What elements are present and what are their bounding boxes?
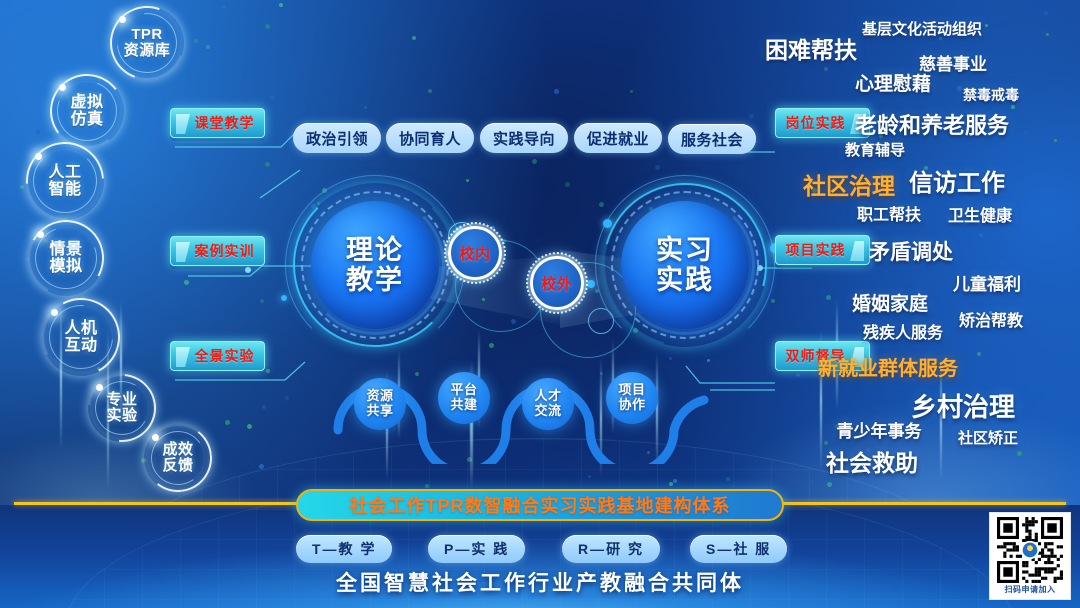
particle-dot (796, 373, 800, 377)
word-cloud-item: 禁毒戒毒 (963, 85, 1019, 105)
bubble-label: 成效反馈 (162, 442, 193, 474)
bridge-node-off-campus[interactable]: 校外 (530, 256, 584, 310)
tps-pill-teaching[interactable]: T—教 学 (296, 535, 392, 563)
particle-dot (824, 67, 828, 71)
particle-dot (827, 482, 832, 487)
bubble-spark (152, 434, 159, 441)
bubble-4[interactable]: 情景模拟 (28, 220, 104, 296)
particle-dot (425, 484, 429, 488)
particle-dot (565, 182, 570, 187)
tag-label: 全景实验 (195, 346, 255, 366)
top-pill-label: 政治引领 (306, 128, 368, 149)
word-cloud-item: 新就业群体服务 (818, 352, 958, 381)
particle-dot (36, 130, 40, 134)
particle-dot (1017, 451, 1022, 456)
particle-dot (630, 90, 633, 93)
wave-node-line1: 人才 (534, 389, 561, 404)
word-cloud-label: 矫治帮教 (959, 313, 1023, 330)
particle-dot (655, 165, 660, 170)
hub-title-line1: 实习 (656, 235, 714, 265)
bubble-label-line2: 资源库 (124, 43, 171, 59)
bubble-label-line1: 成效 (162, 442, 193, 458)
word-cloud-label: 基层文化活动组织 (862, 21, 982, 38)
hub-dot (587, 280, 595, 288)
wave-node-line2: 共建 (450, 398, 477, 413)
word-cloud-item: 儿童福利 (953, 270, 1021, 295)
word-cloud-item: 残疾人服务 (863, 319, 943, 343)
particle-dot (979, 233, 983, 237)
particle-dot (826, 295, 831, 300)
particle-dot (1000, 261, 1004, 265)
top-pill-label: 服务社会 (681, 129, 743, 150)
bubble-label: 专业实验 (106, 392, 137, 424)
tag-label: 课堂教学 (195, 113, 255, 133)
word-cloud-item: 社区治理 (803, 167, 895, 201)
wave-node-talent-exchange[interactable]: 人才交流 (522, 378, 574, 430)
bubble-3[interactable]: 人工智能 (26, 142, 104, 220)
word-cloud-label: 禁毒戒毒 (963, 87, 1019, 103)
bubble-label-line2: 互动 (64, 337, 97, 354)
word-cloud-label: 矛盾调处 (869, 241, 953, 264)
particle-dot (265, 24, 270, 29)
top-pill-1[interactable]: 政治引领 (293, 123, 381, 153)
particle-dot (669, 482, 673, 486)
word-cloud-item: 教育辅导 (845, 139, 905, 160)
hub-dot (603, 219, 612, 228)
wave-node-line1: 平台 (450, 383, 477, 398)
tag-case-training[interactable]: 案例实训 (170, 236, 265, 266)
word-cloud-item: 困难帮扶 (765, 31, 857, 65)
top-pill-5[interactable]: 服务社会 (668, 124, 756, 154)
particle-dot (489, 343, 494, 348)
qr-code-panel[interactable]: 扫码申请加入 (989, 512, 1071, 600)
particle-dot (810, 480, 813, 483)
particle-dot (260, 299, 264, 303)
wave-node-project-collaboration[interactable]: 项目协作 (606, 372, 658, 424)
wave-node-line2: 交流 (534, 404, 561, 419)
bubble-label-line1: 情景 (49, 241, 82, 258)
particle-dot (588, 475, 591, 478)
particle-dot (1024, 131, 1028, 135)
particle-dot (1019, 405, 1023, 409)
tps-pill-label: P—实 践 (444, 539, 509, 559)
particle-dot (206, 45, 210, 49)
particle-dot (412, 36, 416, 40)
tag-panoramic-experiment[interactable]: 全景实验 (170, 341, 265, 371)
particle-dot (262, 405, 266, 409)
bubble-7[interactable]: 成效反馈 (144, 424, 212, 492)
tag-label: 岗位实践 (786, 113, 846, 133)
hub-title-line1: 理论 (346, 235, 404, 265)
particle-dot (957, 86, 962, 91)
word-cloud-label: 婚姻家庭 (852, 294, 928, 315)
word-cloud-item: 乡村治理 (911, 387, 1015, 424)
bubble-5[interactable]: 人机互动 (42, 298, 120, 376)
word-cloud-label: 儿童福利 (953, 275, 1021, 294)
word-cloud-label: 社会救助 (826, 450, 918, 476)
infographic-poster: TPR资源库虚拟仿真人工智能情景模拟人机互动专业实验成效反馈 课堂教学 案例实训… (0, 0, 1080, 608)
word-cloud-item: 社区矫正 (958, 427, 1018, 448)
particle-dot (1054, 139, 1057, 142)
particle-dot (34, 229, 37, 232)
particle-dot (259, 464, 264, 469)
bubble-label-line1: 人工 (48, 164, 81, 181)
bridge-node-on-campus[interactable]: 校内 (448, 226, 502, 280)
hub-title-line2: 教学 (346, 265, 404, 295)
wave-node-line1: 项目 (618, 383, 645, 398)
collaboration-wave-chain: 资源共享 平台共建 人才交流 项目协作 (330, 352, 710, 464)
particle-dot (726, 477, 730, 481)
bubble-spark (96, 384, 103, 391)
top-pill-2[interactable]: 协同育人 (386, 123, 474, 153)
particle-dot (466, 179, 469, 182)
particle-dot (985, 24, 988, 27)
hub-internship-practice[interactable]: 实习 实践 (595, 175, 775, 355)
wave-node-platform-cobuild[interactable]: 平台共建 (438, 372, 490, 424)
bubble-label-line2: 反馈 (162, 458, 193, 474)
word-cloud-item: 信访工作 (909, 163, 1005, 198)
particle-dot (279, 3, 283, 7)
word-cloud-item: 心理慰藉 (855, 69, 931, 96)
bubble-label-line2: 实验 (106, 408, 137, 424)
tag-label: 项目实践 (786, 240, 846, 260)
particle-dot (1011, 105, 1015, 109)
particle-dot (1046, 33, 1049, 36)
tps-pill-practice[interactable]: P—实 践 (428, 535, 525, 563)
word-cloud-label: 困难帮扶 (765, 37, 857, 63)
bubble-label-line1: 人机 (64, 320, 97, 337)
wave-node-resource-sharing[interactable]: 资源共享 (354, 378, 406, 430)
wave-node-line2: 协作 (618, 398, 645, 413)
bottom-title-text: 全国智慧社会工作行业产教融合共同体 (336, 572, 744, 595)
word-cloud-item: 卫生健康 (948, 202, 1012, 226)
word-cloud-label: 残疾人服务 (863, 325, 943, 342)
word-cloud-item: 社会救助 (826, 444, 918, 478)
bubble-label-line2: 智能 (48, 181, 81, 198)
hub-dot (281, 295, 287, 301)
word-cloud-label: 信访工作 (909, 170, 1005, 197)
particle-dot (364, 106, 367, 109)
top-pill-label: 实践导向 (493, 128, 555, 149)
bubble-label: 人机互动 (64, 320, 97, 355)
particle-dot (175, 173, 178, 176)
bridge-node-label: 校外 (541, 273, 572, 294)
top-pill-label: 促进就业 (587, 128, 649, 149)
particle-dot (532, 159, 537, 164)
word-cloud-label: 职工帮扶 (857, 207, 921, 224)
particle-dot (225, 420, 230, 425)
qr-caption: 扫码申请加入 (1005, 584, 1056, 595)
particle-dot (1044, 11, 1048, 15)
particle-dot (977, 352, 981, 356)
bubble-label-line1: TPR (124, 27, 171, 43)
word-cloud-label: 卫生健康 (948, 208, 1012, 225)
top-pill-3[interactable]: 实践导向 (480, 123, 568, 153)
word-cloud-item: 婚姻家庭 (852, 289, 928, 316)
tag-classroom-teaching[interactable]: 课堂教学 (170, 108, 265, 138)
particle-dot (266, 369, 270, 373)
word-cloud-label: 新就业群体服务 (818, 358, 958, 380)
bottom-title: 全国智慧社会工作行业产教融合共同体 (0, 567, 1080, 597)
particle-dot (673, 479, 677, 483)
particle-dot (749, 114, 754, 119)
particle-dot (184, 280, 189, 285)
bubble-1[interactable]: TPR资源库 (110, 6, 184, 80)
word-cloud-item: 基层文化活动组织 (862, 18, 982, 39)
particle-dot (194, 39, 198, 43)
top-pill-label: 协同育人 (399, 128, 461, 149)
bubble-6[interactable]: 专业实验 (88, 374, 156, 442)
word-cloud-item: 青少年事务 (837, 417, 922, 442)
word-cloud-label: 心理慰藉 (855, 74, 931, 95)
hub-title-line2: 实践 (656, 265, 714, 295)
particle-dot (247, 424, 252, 429)
particle-dot (285, 396, 289, 400)
qr-code-icon (994, 517, 1066, 583)
word-cloud-label: 社区矫正 (958, 430, 1018, 447)
word-cloud-label: 青少年事务 (837, 422, 922, 441)
word-cloud-item: 老龄和养老服务 (855, 108, 1009, 140)
bridge-node-label: 校内 (459, 243, 490, 264)
word-cloud-label: 老龄和养老服务 (855, 113, 1009, 138)
word-cloud-label: 教育辅导 (845, 142, 905, 159)
bubble-label: 虚拟仿真 (70, 94, 103, 129)
tps-pill-social-service[interactable]: S—社 服 (690, 535, 787, 563)
tps-pill-research[interactable]: R—研 究 (562, 535, 660, 563)
particle-dot (265, 162, 270, 167)
bubble-label-line2: 仿真 (70, 111, 103, 128)
particle-dot (428, 89, 432, 93)
tag-project-practice[interactable]: 项目实践 (775, 235, 870, 265)
wave-node-line1: 资源 (366, 389, 393, 404)
bubble-label-line2: 模拟 (49, 258, 82, 275)
banner-title: 社会工作TPR数智融合实习实践基地建构体系 (296, 489, 784, 521)
word-cloud-label: 乡村治理 (911, 392, 1015, 422)
hub-theory-teaching[interactable]: 理论 教学 (285, 175, 465, 355)
particle-dot (222, 5, 226, 9)
hub-core: 理论 教学 (311, 201, 439, 329)
bubble-2[interactable]: 虚拟仿真 (50, 74, 124, 148)
banner-title-text: 社会工作TPR数智融合实习实践基地建构体系 (350, 492, 731, 518)
wave-node-line2: 共享 (366, 404, 393, 419)
tps-pill-label: S—社 服 (706, 539, 771, 559)
bubble-label: 人工智能 (48, 164, 81, 199)
particle-dot (20, 185, 24, 189)
top-pill-4[interactable]: 促进就业 (574, 123, 662, 153)
tps-pill-label: R—研 究 (578, 539, 644, 559)
bubble-label: 情景模拟 (49, 241, 82, 276)
tps-pill-label: T—教 学 (312, 539, 376, 559)
particle-dot (270, 95, 275, 100)
bubble-label: TPR资源库 (124, 27, 171, 59)
word-cloud-item: 职工帮扶 (857, 201, 921, 225)
tag-label: 案例实训 (195, 241, 255, 261)
word-cloud-label: 社区治理 (803, 173, 895, 199)
hub-core: 实习 实践 (621, 201, 749, 329)
word-cloud-item: 矫治帮教 (959, 307, 1023, 331)
bubble-spark (37, 231, 44, 238)
word-cloud-item: 矛盾调处 (869, 236, 953, 266)
bubble-label-line1: 虚拟 (70, 94, 103, 111)
qr-code-image (994, 517, 1066, 583)
bubble-label-line1: 专业 (106, 392, 137, 408)
particle-dot (554, 89, 559, 94)
